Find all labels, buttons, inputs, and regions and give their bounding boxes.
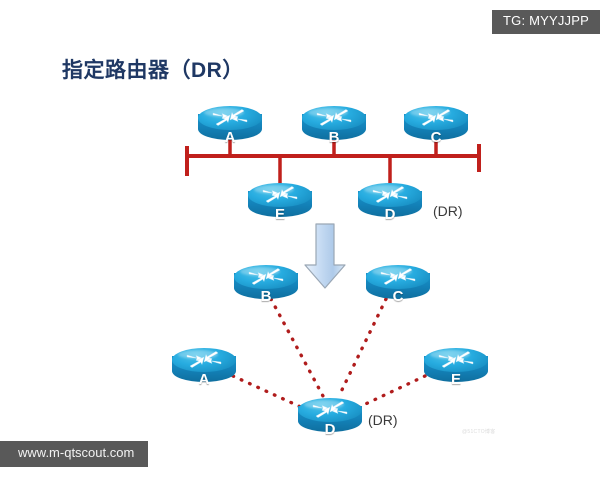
page-title: 指定路由器（DR） — [62, 54, 244, 84]
router-label: E — [248, 207, 312, 222]
dr-caption-top: (DR) — [433, 203, 463, 219]
link-b-d — [271, 299, 323, 396]
router-label: E — [424, 372, 488, 387]
router-node-b-top[interactable]: B — [302, 106, 366, 146]
dr-caption-bottom: (DR) — [368, 412, 398, 428]
tg-watermark-badge: TG: MYYJJPP — [492, 10, 600, 34]
router-arrows-icon — [436, 349, 476, 371]
router-label: A — [198, 130, 262, 145]
router-arrows-icon — [378, 266, 418, 288]
router-node-b-bottom[interactable]: B — [234, 265, 298, 305]
corner-watermark: @51CTO博客 — [462, 428, 496, 435]
router-node-e-bottom[interactable]: E — [424, 348, 488, 388]
link-a-d — [233, 376, 303, 408]
router-label: B — [234, 289, 298, 304]
router-label: B — [302, 130, 366, 145]
router-node-c-top[interactable]: C — [404, 106, 468, 146]
router-label: C — [366, 289, 430, 304]
router-label: D — [358, 207, 422, 222]
router-arrows-icon — [260, 184, 300, 206]
router-arrows-icon — [370, 184, 410, 206]
slide-canvas: TG: MYYJJPP 指定路由器（DR） — [0, 0, 600, 480]
router-node-e-top[interactable]: E — [248, 183, 312, 223]
router-arrows-icon — [210, 107, 250, 129]
router-arrows-icon — [246, 266, 286, 288]
router-node-a-top[interactable]: A — [198, 106, 262, 146]
link-c-d — [339, 299, 386, 396]
link-e-d — [357, 376, 425, 408]
site-watermark-badge: www.m-qtscout.com — [0, 441, 148, 467]
router-arrows-icon — [314, 107, 354, 129]
router-label: D — [298, 422, 362, 437]
router-arrows-icon — [310, 399, 350, 421]
router-node-c-bottom[interactable]: C — [366, 265, 430, 305]
router-node-d-bottom[interactable]: D — [298, 398, 362, 438]
down-arrow-icon — [305, 224, 345, 288]
router-label: C — [404, 130, 468, 145]
router-arrows-icon — [416, 107, 456, 129]
router-node-a-bottom[interactable]: A — [172, 348, 236, 388]
router-arrows-icon — [184, 349, 224, 371]
router-label: A — [172, 372, 236, 387]
dr-adjacency-links — [233, 299, 425, 408]
router-node-d-top[interactable]: D — [358, 183, 422, 223]
